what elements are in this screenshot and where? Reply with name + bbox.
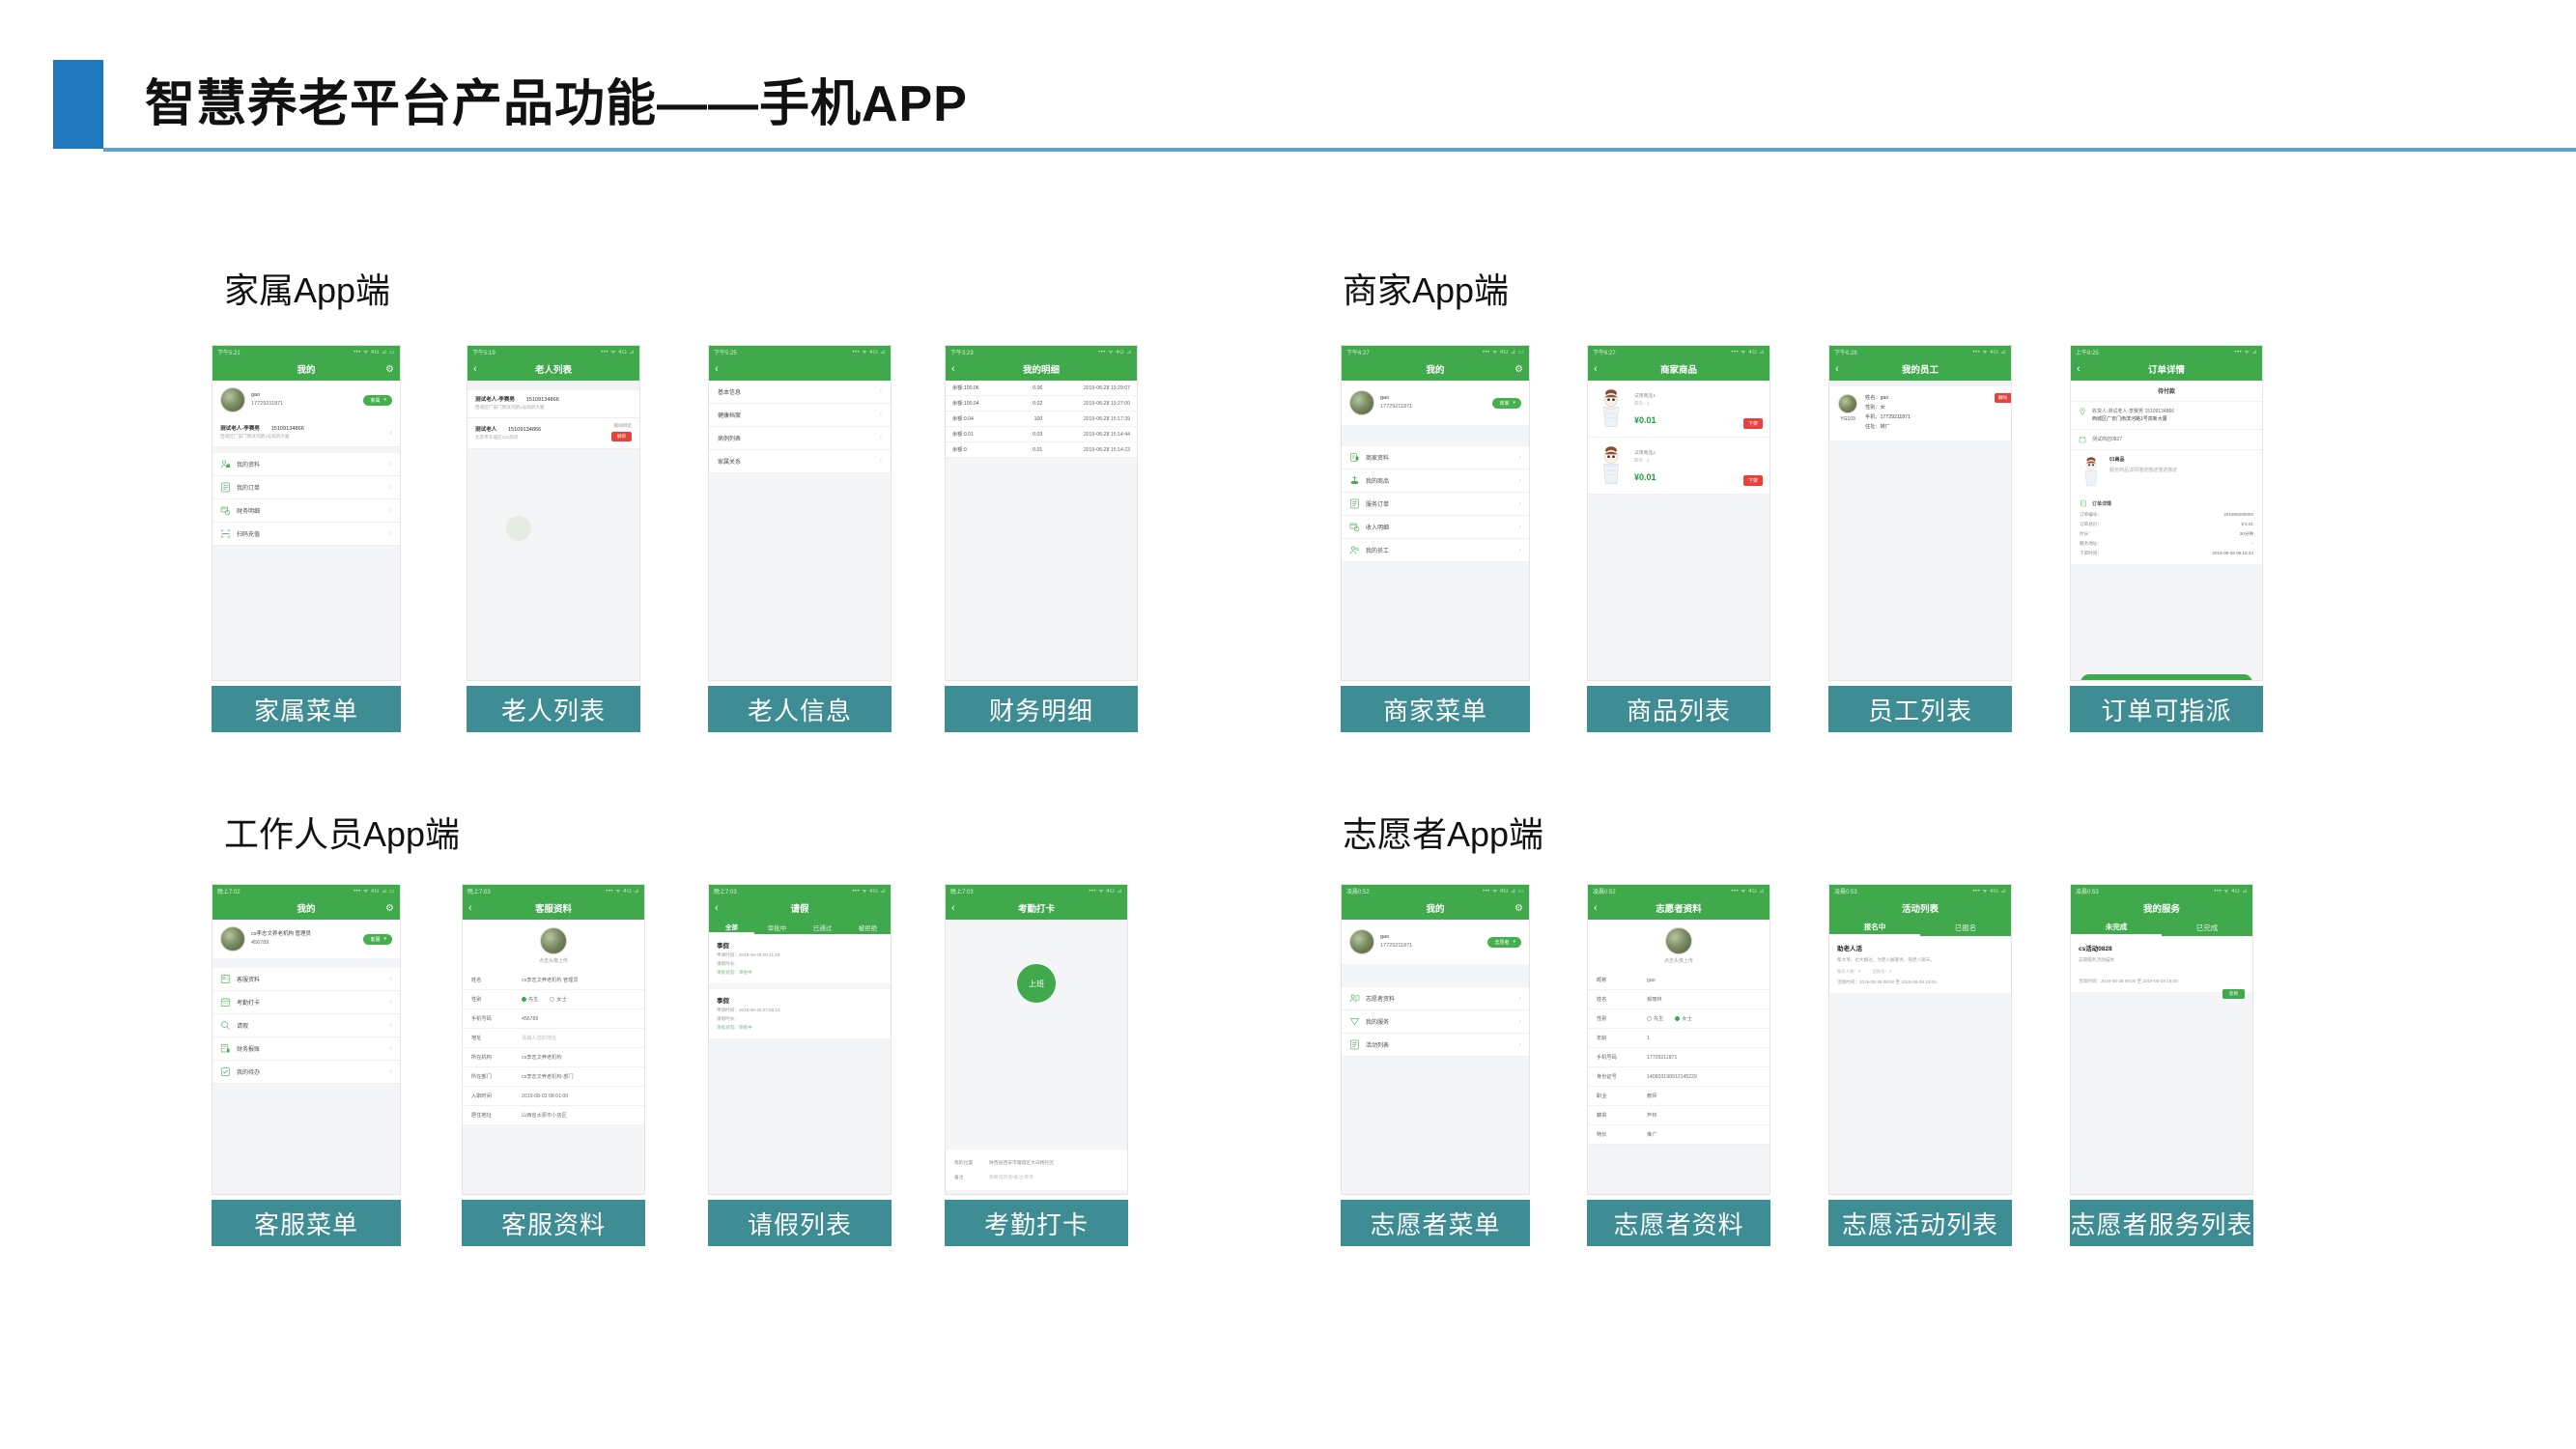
role-label: 商家	[1499, 400, 1509, 407]
avatar	[1665, 927, 1692, 954]
menu-item-label: 我的资料	[237, 460, 260, 469]
field-key: 地址	[471, 1035, 522, 1041]
menu-item-todo[interactable]: 我的待办 ›	[212, 1061, 400, 1084]
field-value: 201908280004	[2223, 512, 2253, 518]
radio-male[interactable]: 先生	[1647, 1015, 1663, 1022]
chevron-right-icon: ›	[1519, 477, 1521, 484]
screen-body: 余额:100.06 0.06 2019-08-28 15:29:07 余额:10…	[946, 381, 1137, 681]
chevron-right-icon: ›	[1519, 1018, 1521, 1025]
field-value: 140603198912145229	[1647, 1074, 1697, 1080]
elder-name-line: 测试老人-李赛男 15109134866	[220, 424, 383, 432]
order-field-row: 订单编号：201908280004	[2071, 510, 2262, 520]
back-icon[interactable]: ‹	[473, 364, 477, 375]
employee-phone-row: 手机：17729211871	[1865, 413, 1911, 423]
tab-rejected[interactable]: 被拒绝	[845, 920, 891, 934]
profile-card[interactable]: cs李志文养老机构 管理员 456789 客服 ▾	[212, 920, 400, 958]
chevron-right-icon: ›	[390, 1068, 392, 1075]
status-bar: 凌晨0:52 ••• ᯤ 4G ⊿ ▭	[1342, 885, 1529, 896]
status-icons: ••• ᯤ 4G ⊿	[1972, 348, 2006, 355]
status-bar: 上午8:25 ••• ᯤ ⊿	[2071, 346, 2262, 357]
caption-employee-list: 员工列表	[1828, 686, 2012, 732]
avatar	[220, 926, 245, 952]
back-icon[interactable]: ‹	[951, 364, 955, 375]
menu-item-volunteer-profile[interactable]: 志愿者资料 ›	[1342, 987, 1529, 1010]
back-icon[interactable]: ‹	[715, 903, 719, 914]
tab-approved[interactable]: 已通过	[800, 920, 845, 934]
menu-item-family-relation[interactable]: 家属关系 ›	[709, 450, 891, 473]
caption-staff-menu: 客服菜单	[212, 1200, 401, 1246]
field-key: 所在机构	[471, 1054, 522, 1061]
field-value: 456789	[522, 1016, 538, 1022]
user-phone: 456789	[251, 940, 269, 946]
menu-item-basic-info[interactable]: 基本信息 ›	[709, 381, 891, 404]
field-phone[interactable]: 手机号码 456789	[463, 1009, 644, 1029]
status-icons: ••• ᯤ 4G ⊿	[2214, 887, 2248, 895]
field-department[interactable]: 所在部门 cs李志文养老机构-部门	[463, 1067, 644, 1087]
location-row: 我的位置 陕西省西安市雁塔区大白杨社区	[946, 1155, 1127, 1170]
phone-product-list: 下午6:27 ••• ᯤ 4G ⊿ ‹ 商家商品	[1587, 345, 1770, 681]
chevron-right-icon: ›	[390, 976, 392, 982]
profile-text: gao 17729211871	[1380, 933, 1412, 950]
order-icon	[1349, 498, 1360, 509]
chevron-right-icon: ›	[880, 412, 882, 418]
nav-title: 我的	[212, 901, 400, 915]
field-name[interactable]: 姓名 cs李志文养老机构 管理员	[463, 971, 644, 990]
elder-address: 北京市东城区101房间	[475, 435, 611, 440]
nav-bar: 我的服务	[2071, 896, 2252, 920]
menu-item-merchant-profile[interactable]: 商家资料 ›	[1342, 446, 1529, 469]
status-time: 上午8:25	[2076, 348, 2099, 356]
avatar-upload[interactable]: 点击头像上传	[463, 920, 644, 971]
tab-signed-up[interactable]: 已报名	[1920, 920, 2011, 936]
radio-label: 先生	[528, 996, 538, 1003]
phone-volunteer-activity: 凌晨0:53 ••• ᯤ 4G ⊿ 活动列表 报名中 已报名 助老人活 帮大爷、…	[1828, 884, 2012, 1195]
avatar	[1349, 390, 1374, 415]
menu-item-label: 志愿者资料	[1366, 994, 1395, 1003]
menu-item-health-record[interactable]: 健康档案 ›	[709, 404, 891, 427]
back-icon[interactable]: ‹	[951, 903, 955, 914]
add-employee-button[interactable]: 添加	[1847, 680, 1994, 681]
profile-icon	[220, 459, 231, 469]
caption-volunteer-menu: 志愿者菜单	[1341, 1200, 1530, 1246]
employee-avatar-block: YG103	[1838, 394, 1857, 433]
product-stock: 库存：1	[1634, 401, 1737, 407]
status-icons: ••• ᯤ 4G ⊿	[1731, 348, 1765, 355]
menu-item-staff-profile[interactable]: 客服资料 ›	[212, 968, 400, 991]
caption-volunteer-activity: 志愿活动列表	[1828, 1200, 2012, 1246]
user-name: gao	[251, 391, 283, 400]
field-key: 入职时间	[471, 1093, 522, 1099]
service-title: cs活动0828	[2079, 943, 2245, 952]
chevron-right-icon: ›	[880, 388, 882, 395]
nav-bar: 我的 ⚙	[212, 896, 400, 920]
radio-label: 先生	[1654, 1015, 1663, 1022]
field-phone[interactable]: 手机号码 17729211871	[1588, 1048, 1769, 1067]
menu-item-label: 我的服务	[1366, 1017, 1389, 1026]
avatar	[1838, 394, 1857, 413]
leave-duration: 请假时长：	[717, 961, 883, 967]
list-item[interactable]: 事假 申请时间：2019-08-28 07:58:14 请假时长： 审批状态：审…	[709, 989, 891, 1038]
list-item[interactable]: cs活动0828 志愿服务活动描述 活动时间：2019-08-28 09:00 …	[2071, 936, 2252, 992]
menu-item-finance[interactable]: 财务明细 ›	[212, 499, 400, 523]
avatar	[540, 927, 567, 954]
user-phone: 17729211871	[251, 401, 283, 407]
screen-body: gao 17729211871 志愿者 ▾ 志愿者资料 › 我的服务 ›	[1342, 920, 1529, 1195]
field-hometown[interactable]: 籍贯 芦林	[1588, 1106, 1769, 1125]
nav-bar: ‹ 志愿者资料	[1588, 896, 1769, 920]
nav-bar: ‹ 商家商品	[1588, 357, 1769, 381]
employee-card[interactable]: YG103 姓名：gao 性别：女 手机：17729211871 住址：转厂 删…	[1829, 386, 2011, 440]
field-specialty[interactable]: 特长 推广	[1588, 1125, 1769, 1145]
status-icons: ••• ᯤ 4G ⊿ ▭	[354, 348, 395, 355]
employee-sex-row: 性别：女	[1865, 404, 1911, 413]
order-item-name: 01商品	[2109, 456, 2177, 464]
menu-item-goods[interactable]: 我的商品 ›	[1342, 469, 1529, 493]
product-action-button[interactable]: 下架	[1743, 418, 1763, 429]
status-time: 凌晨0:53	[2076, 887, 2099, 895]
elder-info: 测试老人 15109134866 北京市东城区101房间	[475, 425, 611, 440]
product-name: 试用商品2	[1634, 449, 1737, 456]
nav-title: 商家商品	[1588, 362, 1769, 376]
nav-title: 我的服务	[2071, 901, 2252, 915]
list-item[interactable]: 助老人活 帮大爷、也大娘过，为老人解家务，陪老人聊天。 报名人数：5 已报名：2…	[1829, 936, 2011, 993]
menu-item-finance-report[interactable]: 财务报账 ›	[212, 1037, 400, 1061]
decorative-circle	[506, 516, 531, 541]
order-field-row: 服务地址：-	[2071, 539, 2262, 549]
status-icons: ••• ᯤ 4G ⊿ ▭	[354, 887, 395, 895]
time-cell: 2019-08-28 15:14:44	[1048, 432, 1130, 438]
service-tabs: 未完成 已完成	[2071, 920, 2252, 936]
nav-bar: ‹ 考勤打卡	[946, 896, 1127, 920]
user-name: gao	[1380, 933, 1412, 942]
status-icons: ••• ᯤ 4G ⊿	[1731, 887, 1765, 895]
field-key: 订单编号：	[2080, 512, 2102, 518]
role-selector[interactable]: 客服 ▾	[363, 934, 392, 945]
punch-in-button[interactable]: 上班	[1017, 964, 1056, 1003]
slide-title-bar: 智慧养老平台产品功能——手机APP	[0, 60, 2576, 149]
unbind-label: 解除绑定	[611, 423, 632, 429]
amount-cell: 0.01	[1014, 447, 1049, 453]
user-name: gao	[1380, 394, 1412, 403]
screen-body: 待付款 收货人:测试老人-李赛男 15109134866 西城区广安门南滨河路1…	[2071, 381, 2262, 681]
profile-text: gao 17729211871	[251, 391, 283, 408]
elder-phone: 15109134866	[271, 426, 304, 432]
caption-merchant-menu: 商家菜单	[1341, 686, 1530, 732]
balance-cell: 余额:0.01	[952, 431, 1014, 438]
field-hire-time[interactable]: 入职时间 2019-08-03 08:01:00	[463, 1087, 644, 1106]
nav-bar: 我的 ⚙	[1342, 896, 1529, 920]
chevron-right-icon: ›	[390, 1022, 392, 1029]
status-icons: ••• ᯤ 4G ⊿ ▭	[1483, 887, 1524, 895]
menu-item-leave[interactable]: 请假 ›	[212, 1014, 400, 1037]
gear-icon[interactable]: ⚙	[385, 903, 394, 914]
phone-attendance: 晚上7:03 ••• ᯤ 4G ⊿ ‹ 考勤打卡 上班 我的位置 陕西省西安市雁…	[945, 884, 1128, 1195]
status-time: 下午5:21	[217, 348, 241, 356]
finance-icon	[220, 1043, 231, 1054]
profile-icon	[1349, 993, 1360, 1004]
screen-body: 点击头像上传 昵称 gao 姓名 郝丽林 性别 先生 女士 年龄 1 手机号码 …	[1588, 920, 1769, 1195]
menu-item-activity-list[interactable]: 活动列表 ›	[1342, 1034, 1529, 1057]
balance-cell: 余额:0	[952, 446, 1014, 453]
tab-pending[interactable]: 审批中	[754, 920, 800, 934]
status-bar: 凌晨0:52 ••• ᯤ 4G ⊿	[1588, 885, 1769, 896]
menu-item-label: 扫码充值	[237, 529, 260, 538]
unbind-button[interactable]: 解绑	[611, 432, 632, 441]
elder-phone: 15109134866	[526, 397, 559, 403]
nav-title: 志愿者资料	[1588, 901, 1769, 915]
radio-female[interactable]: 女士	[1675, 1015, 1691, 1022]
gear-icon[interactable]: ⚙	[385, 364, 394, 375]
assign-employee-button[interactable]: 可派员工服务	[2081, 674, 2252, 681]
field-value: 转厂	[1881, 424, 1890, 430]
avatar	[1349, 929, 1374, 954]
list-item[interactable]: 测试老人 15109134866 北京市东城区101房间 解除绑定 解绑	[467, 418, 639, 449]
elder-info: 测试老人-李赛男 15109134866 西城区广安门南滨河路1号高新大厦	[475, 395, 632, 411]
nav-bar: ‹ 请假	[709, 896, 891, 920]
leave-apply-time: 申请时间：2019-08-28 09:11:33	[717, 952, 883, 958]
amount-cell: 0.03	[1014, 432, 1049, 438]
checkin-button[interactable]: 签到	[2222, 989, 2245, 999]
profile-text: gao 17729211871	[1380, 394, 1412, 411]
elder-address: 西城区广安门南滨河路1号高新大厦	[475, 405, 632, 411]
table-row: 余额:0 0.01 2019-08-28 15:14:23	[946, 442, 1137, 458]
field-key: 年龄	[1597, 1035, 1647, 1041]
radio-male[interactable]: 先生	[522, 996, 538, 1003]
status-time: 凌晨0:52	[1593, 887, 1616, 895]
phone-staff-profile: 晚上7:03 ••• ᯤ 4G ⊿ ‹ 客服资料 点击头像上传 姓名 cs李志文…	[462, 884, 645, 1195]
order-item: 01商品 服务商品详情描述描述描述描述	[2071, 449, 2262, 494]
profile-icon	[220, 974, 231, 984]
caption-order-assign: 订单可指派	[2070, 686, 2263, 732]
elder-name-line: 测试老人 15109134866	[475, 425, 611, 433]
caption-elder-info: 老人信息	[708, 686, 892, 732]
menu-item-label: 商家资料	[1366, 453, 1389, 462]
menu-item-label: 财务报账	[237, 1044, 260, 1053]
tab-incomplete[interactable]: 未完成	[2071, 920, 2162, 936]
profile-card[interactable]: gao 17729211871 商家 ▾	[1342, 381, 1529, 425]
caption-staff-profile: 客服资料	[462, 1200, 645, 1246]
menu-item-case-list[interactable]: 病例列表 ›	[709, 427, 891, 450]
caption-finance-detail: 财务明细	[945, 686, 1138, 732]
field-key: 身份证号	[1597, 1073, 1647, 1080]
field-value: cs李志文养老机构-部门	[522, 1073, 574, 1080]
status-time: 下午6:27	[1346, 348, 1370, 356]
phone-volunteer-menu: 凌晨0:52 ••• ᯤ 4G ⊿ ▭ 我的 ⚙ gao 17729211871…	[1341, 884, 1530, 1195]
role-label: 志愿者	[1494, 939, 1509, 946]
delete-button[interactable]: 删除	[1995, 393, 2011, 403]
elder-name: 测试老人-李赛男	[475, 397, 515, 403]
back-icon[interactable]: ‹	[468, 903, 472, 914]
list-item[interactable]: 测试老人-李赛男 15109134866 西城区广安门南滨河路1号高新大厦	[467, 390, 639, 418]
status-icons: ••• ᯤ 4G ⊿ ▭	[1483, 348, 1524, 355]
page-title: 智慧养老平台产品功能——手机APP	[145, 68, 968, 141]
menu-item-my-service[interactable]: 我的服务 ›	[1342, 1010, 1529, 1034]
gear-icon[interactable]: ⚙	[1514, 364, 1523, 375]
menu-item-label: 基本信息	[718, 387, 741, 396]
table-row: 余额:0.01 0.03 2019-08-28 15:14:44	[946, 427, 1137, 442]
field-sex[interactable]: 性别 先生 女士	[1588, 1009, 1769, 1029]
status-time: 凌晨0:53	[1834, 887, 1857, 895]
nav-bar: ‹	[709, 357, 891, 381]
product-name: 试用商品1	[1634, 392, 1737, 399]
menu-item-label: 请假	[237, 1021, 248, 1030]
chevron-right-icon: ›	[1519, 524, 1521, 530]
back-icon[interactable]: ‹	[715, 364, 719, 375]
user-phone: 17729211871	[1380, 404, 1412, 410]
staff-icon	[1349, 545, 1360, 555]
caption-product-list: 商品列表	[1587, 686, 1770, 732]
field-address[interactable]: 地址 请输入您的地址	[463, 1029, 644, 1048]
profile-text: cs李志文养老机构 管理员 456789	[251, 931, 311, 947]
bound-elder-row[interactable]: 测试老人-李赛男 15109134866 西城区广安门南滨河路1号高新大厦 ›	[212, 419, 400, 447]
tab-signing-up[interactable]: 报名中	[1829, 920, 1920, 936]
radio-label: 女士	[556, 996, 566, 1003]
field-key: 性别：	[1865, 405, 1881, 411]
status-icons: ••• ᯤ 4G ⊿	[852, 348, 886, 355]
avatar-upload[interactable]: 点击头像上传	[1588, 920, 1769, 971]
chevron-right-icon: ›	[1519, 500, 1521, 507]
status-icons: ••• ᯤ 4G ⊿	[1089, 887, 1122, 895]
field-nickname[interactable]: 昵称 gao	[1588, 971, 1769, 990]
tab-all[interactable]: 全部	[709, 920, 754, 934]
calendar-icon	[220, 997, 231, 1008]
menu-item-scan-recharge[interactable]: 扫码充值 ›	[212, 523, 400, 546]
time-cell: 2019-08-28 15:27:00	[1048, 401, 1130, 407]
profile-card[interactable]: gao 17729211871 志愿者 ▾	[1342, 920, 1529, 964]
scan-icon	[220, 528, 231, 539]
status-icons: ••• ᯤ 4G ⊿	[606, 887, 639, 895]
status-icons: ••• ᯤ 4G ⊿	[852, 887, 886, 895]
field-age[interactable]: 年龄 1	[1588, 1029, 1769, 1048]
status-time: 晚上7:02	[217, 887, 241, 895]
menu-item-orders[interactable]: 我的订单 ›	[212, 476, 400, 499]
phone-leave-list: 晚上7:03 ••• ᯤ 4G ⊿ ‹ 请假 全部 审批中 已通过 被拒绝 事假…	[708, 884, 892, 1195]
order-icon	[1349, 1039, 1360, 1050]
profile-card[interactable]: gao 17729211871 家属 ▾	[212, 381, 400, 419]
receiver-line-1: 收货人:测试老人-李赛男 15109134866	[2092, 408, 2174, 415]
back-icon[interactable]: ‹	[2077, 364, 2081, 375]
product-action-button[interactable]: 下架	[1743, 475, 1763, 486]
elder-address: 西城区广安门南滨河路1号高新大厦	[220, 434, 383, 440]
employee-name-row: 姓名：gao	[1865, 394, 1911, 404]
leave-duration: 请假时长：	[717, 1016, 883, 1022]
field-value: 1	[1647, 1036, 1650, 1041]
caption-leave-list: 请假列表	[708, 1200, 892, 1246]
tab-completed[interactable]: 已完成	[2162, 920, 2252, 936]
shop-section[interactable]: 测试商店0827	[2071, 429, 2262, 449]
chevron-down-icon: ▾	[1513, 939, 1515, 945]
leave-status: 审批状态：审批中	[717, 970, 883, 976]
field-value: 女	[1881, 405, 1885, 411]
field-organization[interactable]: 所在机构 cs李志文养老机构	[463, 1048, 644, 1067]
list-item[interactable]: 试用商品1 库存：1 ¥0.01 下架	[1588, 381, 1769, 438]
nav-title: 订单详情	[2071, 362, 2262, 376]
field-id-number[interactable]: 身份证号 140603198912145229	[1588, 1067, 1769, 1087]
field-name[interactable]: 姓名 郝丽林	[1588, 990, 1769, 1009]
menu-item-label: 家属关系	[718, 457, 741, 466]
gear-icon[interactable]: ⚙	[1514, 903, 1523, 914]
field-value: cs李志文养老机构 管理员	[522, 977, 579, 983]
chevron-right-icon: ›	[1519, 547, 1521, 554]
field-key: 居住地址	[471, 1112, 522, 1119]
field-key: 籍贯	[1597, 1112, 1647, 1119]
order-field-row: 下单时间：2019-08-28 09:18:24	[2071, 549, 2262, 558]
amount-cell: 0.02	[1014, 401, 1049, 407]
list-item[interactable]: 试用商品2 库存：1 ¥0.01 下架	[1588, 438, 1769, 495]
signup-count: 报名人数：5	[1837, 969, 1860, 975]
punch-area: 上班	[946, 920, 1127, 1065]
menu-item-staff[interactable]: 我的员工 ›	[1342, 539, 1529, 562]
screen-body: cs李志文养老机构 管理员 456789 客服 ▾ 客服资料 › 考勤打卡 ›	[212, 920, 400, 1195]
field-value: 17729211871	[1881, 414, 1911, 420]
field-placeholder[interactable]: 我要说的话/备注/事项	[989, 1174, 1118, 1180]
product-price: ¥0.01	[1634, 415, 1737, 425]
nav-title: 考勤打卡	[946, 901, 1127, 915]
field-key: 服务地址：	[2080, 541, 2102, 547]
nav-bar: ‹ 老人列表	[467, 357, 639, 381]
screen-body: 试用商品1 库存：1 ¥0.01 下架	[1588, 381, 1769, 681]
employee-addr-row: 住址：转厂	[1865, 423, 1911, 433]
leave-type: 事假	[717, 995, 883, 1005]
role-selector[interactable]: 商家 ▾	[1492, 398, 1521, 409]
menu-list: 商家资料 › 我的商品 › 服务订单 › 收入明细 ›	[1342, 446, 1529, 562]
menu-item-profile[interactable]: 我的资料 ›	[212, 453, 400, 476]
status-bar: 下午6:28 ••• ᯤ 4G ⊿	[1829, 346, 2011, 357]
status-time: 晚上7:03	[950, 887, 974, 895]
field-key: 昵称	[1597, 977, 1647, 983]
nav-title: 活动列表	[1829, 901, 2011, 915]
field-sex[interactable]: 性别 先生 女士	[463, 990, 644, 1009]
phone-volunteer-service: 凌晨0:53 ••• ᯤ 4G ⊿ 我的服务 未完成 已完成 cs活动0828 …	[2070, 884, 2253, 1195]
radio-female[interactable]: 女士	[550, 996, 566, 1003]
back-icon[interactable]: ‹	[1594, 364, 1598, 375]
service-desc: 志愿服务活动描述	[2079, 956, 2245, 964]
field-occupation[interactable]: 职业 教师	[1588, 1087, 1769, 1106]
remark-row: 备注 我要说的话/备注/事项	[946, 1170, 1127, 1184]
menu-item-label: 我的待办	[237, 1067, 260, 1076]
field-value: 山西省太原市小店区	[522, 1112, 567, 1119]
field-value: 17729211871	[1647, 1055, 1677, 1061]
section-heading-family: 家属App端	[224, 263, 390, 313]
location-icon	[2079, 408, 2086, 423]
status-time: 下午6:28	[1834, 348, 1857, 356]
profile-icon	[1349, 452, 1360, 463]
phone-employee-list: 下午6:28 ••• ᯤ 4G ⊿ ‹ 我的员工 YG103 姓名：gao 性别…	[1828, 345, 2012, 681]
field-key: 订单总价：	[2080, 522, 2102, 527]
leave-type: 事假	[717, 940, 883, 950]
nav-bar: ‹ 订单详情	[2071, 357, 2262, 381]
back-icon[interactable]: ‹	[1835, 364, 1839, 375]
back-icon[interactable]: ‹	[1594, 903, 1598, 914]
list-item[interactable]: 事假 申请时间：2019-08-28 09:11:33 请假时长： 审批状态：审…	[709, 934, 891, 983]
chevron-right-icon: ›	[880, 458, 882, 465]
chevron-right-icon: ›	[389, 428, 392, 437]
status-bar: 下午6:27 ••• ᯤ 4G ⊿	[1588, 346, 1769, 357]
nav-bar: 我的 ⚙	[212, 357, 400, 381]
menu-item-service-orders[interactable]: 服务订单 ›	[1342, 493, 1529, 516]
status-bar: 下午5:19 ••• ᯤ 4G ⊿	[467, 346, 639, 357]
role-selector[interactable]: 志愿者 ▾	[1487, 937, 1521, 948]
elder-phone: 15109134866	[508, 427, 541, 433]
menu-item-income-detail[interactable]: 收入明细 ›	[1342, 516, 1529, 539]
field-residence[interactable]: 居住地址 山西省太原市小店区	[463, 1106, 644, 1125]
role-selector[interactable]: 家属 ▾	[363, 395, 392, 406]
receiver-line-2: 西城区广安门南滨河路1号高新大厦	[2092, 415, 2174, 423]
menu-item-attendance[interactable]: 考勤打卡 ›	[212, 991, 400, 1014]
activity-meta: 报名人数：5 已报名：2	[1837, 969, 2003, 975]
chevron-down-icon: ▾	[1513, 400, 1515, 406]
order-item-desc: 服务商品详情描述描述描述描述	[2109, 467, 2177, 474]
